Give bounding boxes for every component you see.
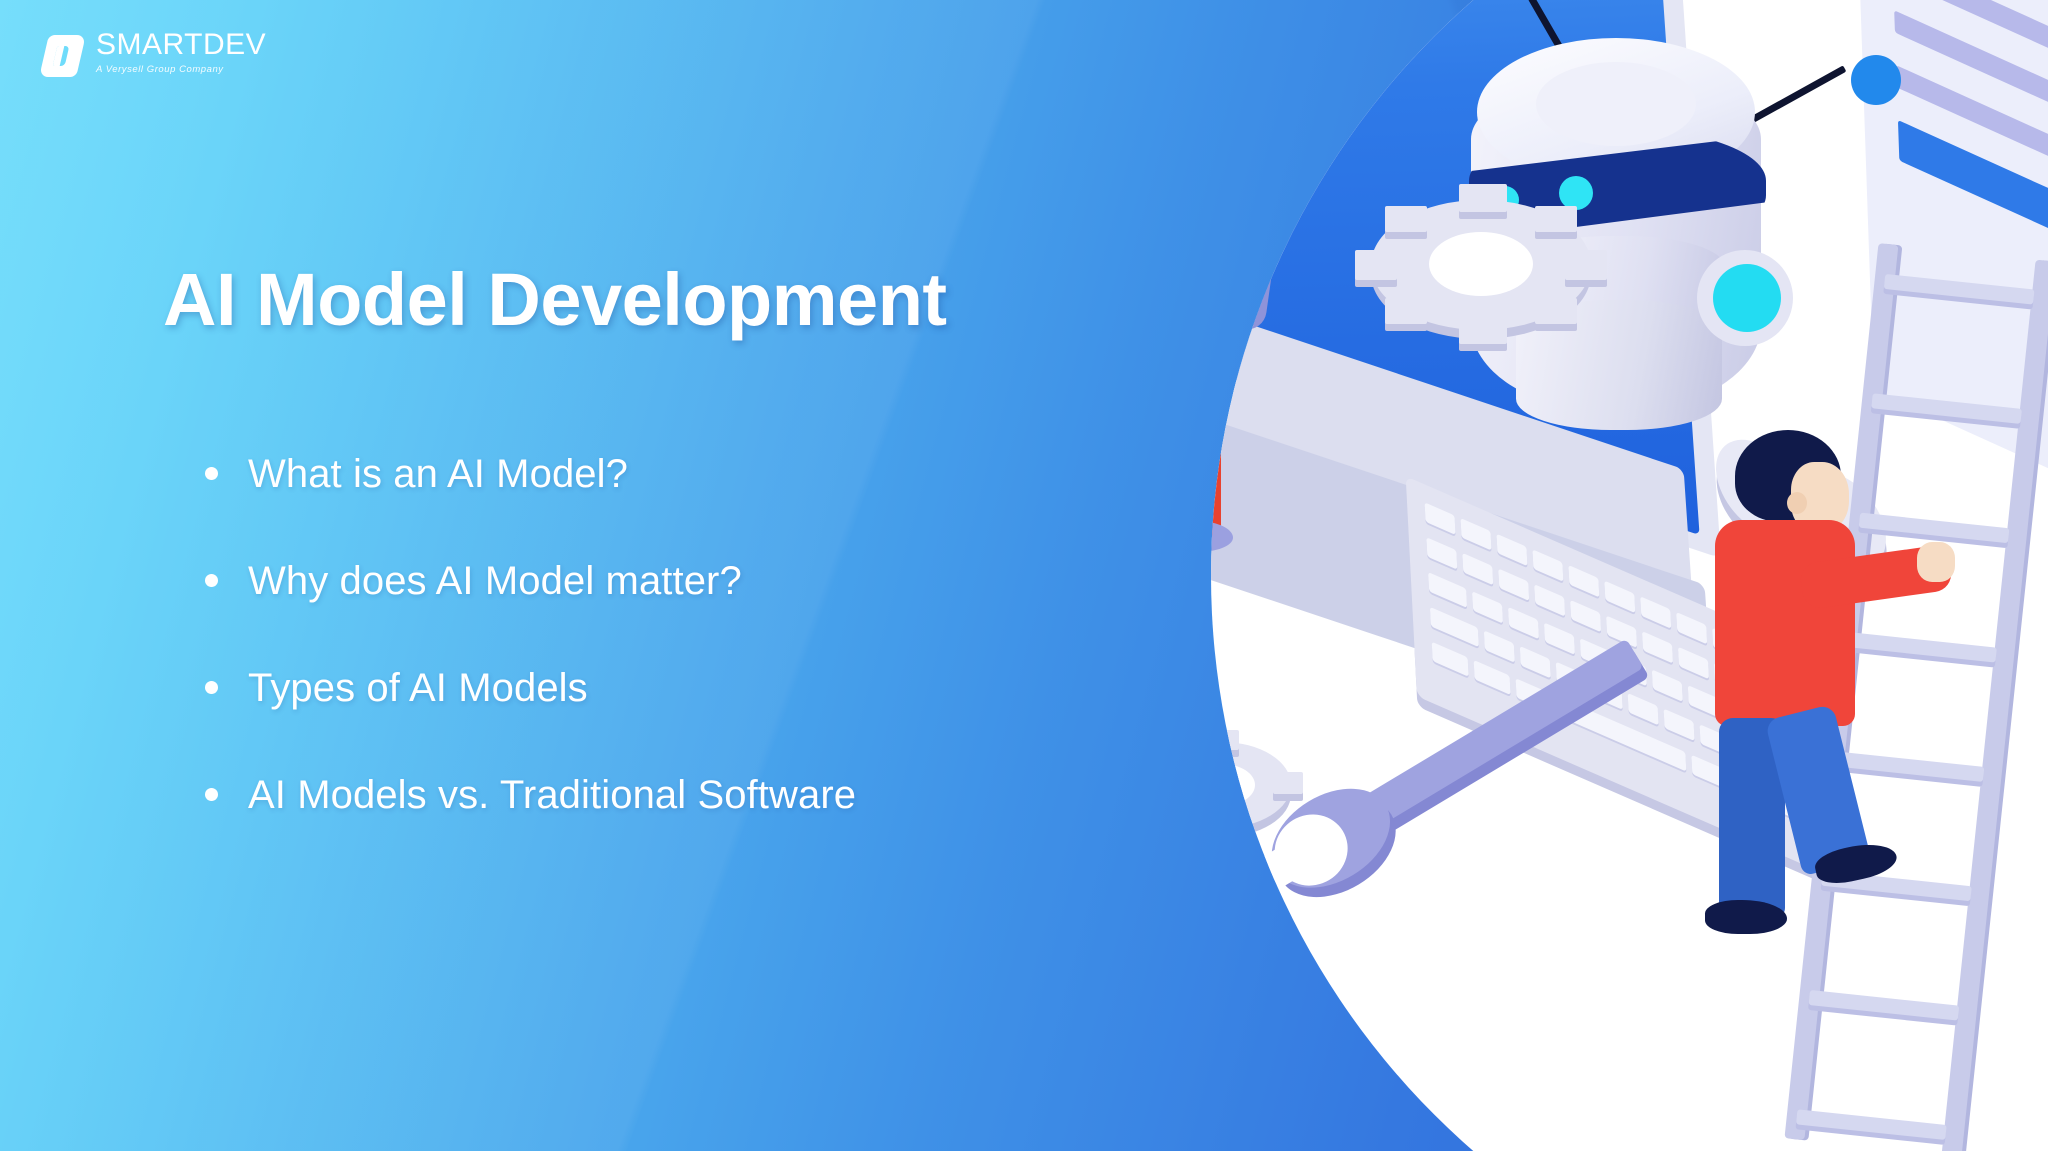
- list-item: Types of AI Models: [205, 666, 1085, 711]
- gear-large: [1371, 200, 1591, 330]
- torso: [1715, 520, 1855, 726]
- agenda-list: What is an AI Model? Why does AI Model m…: [205, 452, 1085, 818]
- illustration-circle: # </>: [1211, 0, 2048, 1151]
- developer-with-wrench: [1211, 80, 1321, 550]
- gear-tiny: [1211, 742, 1291, 828]
- bullet-dot-icon: [205, 681, 218, 694]
- ear: [1787, 492, 1807, 514]
- shoe-back: [1705, 900, 1787, 934]
- bullet-dot-icon: [205, 788, 218, 801]
- robot-side-eye-icon: [1713, 264, 1781, 332]
- list-item: What is an AI Model?: [205, 452, 1085, 497]
- illustration-canvas: # </>: [1211, 0, 2048, 1151]
- brand-name: SMARTDEV: [96, 30, 266, 60]
- list-item-label: Why does AI Model matter?: [248, 559, 742, 604]
- brand-logo[interactable]: SMARTDEV A Verysell Group Company: [44, 30, 266, 77]
- robot-antenna-ball-right: [1851, 55, 1901, 105]
- shoe-right: [1211, 520, 1233, 552]
- robot-head-highlight: [1536, 62, 1696, 146]
- smartdev-logo-mark-icon: [44, 35, 81, 77]
- developer-on-ladder: [1691, 430, 1951, 930]
- page-title: AI Model Development: [163, 257, 947, 342]
- brand-tagline: A Verysell Group Company: [96, 65, 266, 75]
- bullet-dot-icon: [205, 467, 218, 480]
- bullet-dot-icon: [205, 574, 218, 587]
- list-item-label: What is an AI Model?: [248, 452, 628, 497]
- hand: [1917, 542, 1955, 582]
- list-item: AI Models vs. Traditional Software: [205, 773, 1085, 818]
- leg-right: [1211, 356, 1221, 536]
- list-item-label: Types of AI Models: [248, 666, 588, 711]
- slide-root: SMARTDEV A Verysell Group Company AI Mod…: [0, 0, 2048, 1151]
- list-item: Why does AI Model matter?: [205, 559, 1085, 604]
- hand: [1257, 180, 1293, 220]
- list-item-label: AI Models vs. Traditional Software: [248, 773, 856, 818]
- brand-logo-text: SMARTDEV A Verysell Group Company: [96, 30, 266, 75]
